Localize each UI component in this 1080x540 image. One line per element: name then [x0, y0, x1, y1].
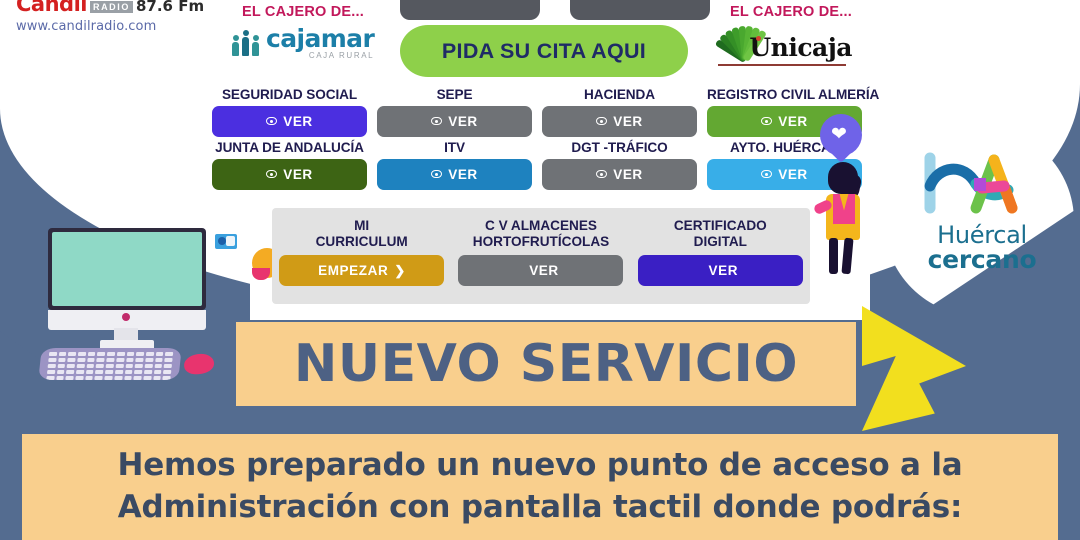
panel-cell: C V ALMACENES HORTOFRUTÍCOLASVER — [458, 218, 623, 286]
panel-action-button[interactable]: VER — [638, 255, 803, 286]
ver-button[interactable]: VER — [377, 159, 532, 190]
huercal-logo-line1: Huércal — [912, 223, 1052, 247]
nuevo-servicio-title: NUEVO SERVICIO — [294, 334, 798, 394]
monitor-frame — [48, 228, 206, 310]
ver-button-label: VER — [613, 167, 643, 182]
eye-icon — [266, 117, 277, 125]
service-title: HACIENDA — [542, 88, 697, 103]
ver-button-label: VER — [448, 114, 478, 129]
cajamar-mark-icon — [232, 30, 260, 56]
eye-icon — [266, 170, 277, 178]
ver-button-label: VER — [283, 114, 313, 129]
panel-cell: MI CURRICULUMEMPEZAR❯ — [279, 218, 444, 286]
ver-button-label: VER — [448, 167, 478, 182]
services-grid: SEGURIDAD SOCIALVERSEPEVERHACIENDAVERREG… — [212, 88, 862, 194]
ver-button[interactable]: VER — [212, 106, 367, 137]
cutoff-button-left[interactable] — [400, 0, 540, 20]
huercal-cercano-logo: Huércal cercano — [912, 150, 1052, 273]
unicaja-fan-icon — [718, 22, 753, 62]
nuevo-servicio-banner: NUEVO SERVICIO — [236, 322, 856, 406]
candil-radio-chip: RADIO — [90, 1, 133, 13]
ver-button[interactable]: VER — [542, 106, 697, 137]
contact-card-icon — [215, 234, 237, 249]
mouse-illustration — [183, 352, 215, 376]
service-cell: SEPEVER — [377, 88, 532, 137]
ver-button-label: VER — [778, 167, 808, 182]
panel-title: C V ALMACENES HORTOFRUTÍCOLAS — [458, 218, 623, 249]
service-title: REGISTRO CIVIL ALMERÍA — [707, 88, 862, 103]
cutoff-button-right[interactable] — [570, 0, 710, 20]
panel-button-label: VER — [709, 263, 739, 278]
extra-services-panel: MI CURRICULUMEMPEZAR❯C V ALMACENES HORTO… — [272, 208, 810, 304]
unicaja-wordmark: Unicaja — [749, 33, 852, 62]
monitor-power-dot — [122, 313, 130, 321]
panel-cell: CERTIFICADO DIGITALVER — [638, 218, 803, 286]
service-cell: JUNTA DE ANDALUCÍAVER — [212, 141, 367, 190]
service-title: DGT -TRÁFICO — [542, 141, 697, 156]
eye-icon — [761, 117, 772, 125]
ver-button[interactable]: VER — [542, 159, 697, 190]
panel-action-button[interactable]: VER — [458, 255, 623, 286]
service-title: SEPE — [377, 88, 532, 103]
poster-canvas: Candil RADIO 87.6 Fm www.candilradio.com… — [0, 0, 1080, 540]
eye-icon — [596, 170, 607, 178]
pida-su-cita-label: PIDA SU CITA AQUI — [442, 39, 646, 64]
unicaja-logo: Unicaja — [718, 22, 852, 66]
panel-title: MI CURRICULUM — [279, 218, 444, 249]
service-cell: HACIENDAVER — [542, 88, 697, 137]
service-title: JUNTA DE ANDALUCÍA — [212, 141, 367, 156]
person-illustration — [812, 160, 874, 280]
body-copy-line-1: Hemos preparado un nuevo punto de acceso… — [50, 444, 1030, 486]
huercal-logo-line2: cercano — [912, 247, 1052, 273]
heart-pin-icon: ❤ — [820, 114, 862, 162]
ver-button-label: VER — [613, 114, 643, 129]
ver-button[interactable]: VER — [377, 106, 532, 137]
pida-su-cita-button[interactable]: PIDA SU CITA AQUI — [400, 25, 688, 77]
ver-button[interactable]: VER — [212, 159, 367, 190]
body-copy-line-2: Administración con pantalla tactil donde… — [50, 486, 1030, 528]
monitor-screen — [52, 232, 202, 306]
candil-frequency: 87.6 Fm — [136, 0, 204, 14]
cajero-label-left: EL CAJERO DE... — [242, 4, 364, 20]
eye-icon — [431, 117, 442, 125]
service-title: ITV — [377, 141, 532, 156]
unicaja-underline — [718, 64, 846, 66]
chevron-right-icon: ❯ — [394, 263, 405, 279]
desktop-computer-illustration — [34, 228, 224, 388]
candil-wordmark: Candil — [16, 0, 87, 15]
candil-website-url[interactable]: www.candilradio.com — [16, 19, 206, 34]
keyboard-illustration — [38, 348, 181, 380]
ver-button-label: VER — [778, 114, 808, 129]
service-cell: ITVVER — [377, 141, 532, 190]
eye-icon — [431, 170, 442, 178]
service-title: SEGURIDAD SOCIAL — [212, 88, 367, 103]
ver-button-label: VER — [283, 167, 313, 182]
panel-title: CERTIFICADO DIGITAL — [638, 218, 803, 249]
service-cell: DGT -TRÁFICOVER — [542, 141, 697, 190]
services-row-2: JUNTA DE ANDALUCÍAVERITVVERDGT -TRÁFICOV… — [212, 141, 862, 190]
service-cell: SEGURIDAD SOCIALVER — [212, 88, 367, 137]
panel-button-label: EMPEZAR — [318, 263, 388, 278]
panel-action-button[interactable]: EMPEZAR❯ — [279, 255, 444, 286]
panel-button-label: VER — [529, 263, 559, 278]
services-row-1: SEGURIDAD SOCIALVERSEPEVERHACIENDAVERREG… — [212, 88, 862, 137]
body-copy-banner: Hemos preparado un nuevo punto de acceso… — [22, 434, 1058, 540]
cajamar-logo: cajamar CAJA RURAL — [232, 26, 374, 60]
cajamar-wordmark: cajamar — [266, 26, 374, 51]
huercal-ha-monogram-icon — [912, 150, 1052, 216]
eye-icon — [761, 170, 772, 178]
eye-icon — [596, 117, 607, 125]
candil-radio-logo: Candil RADIO 87.6 Fm www.candilradio.com — [16, 0, 206, 34]
cajero-label-right: EL CAJERO DE... — [730, 4, 852, 20]
cajamar-tagline: CAJA RURAL — [266, 52, 374, 60]
